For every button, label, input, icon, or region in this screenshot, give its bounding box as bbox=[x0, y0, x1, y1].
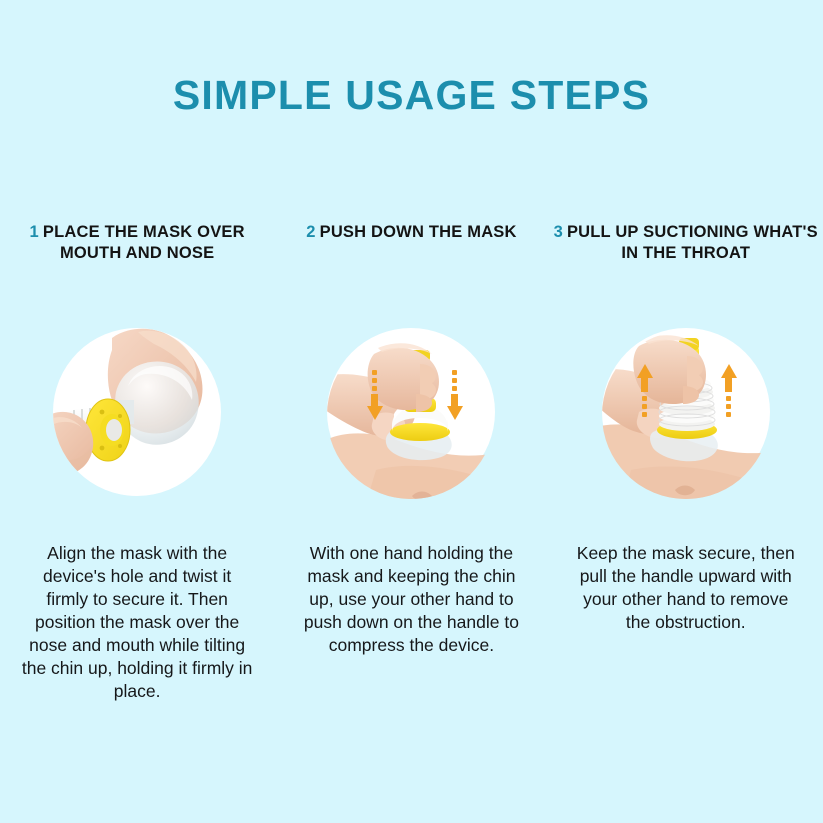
step-caption-2: With one hand holding the mask and keepi… bbox=[300, 542, 522, 657]
step-caption-3: Keep the mask secure, then pull the hand… bbox=[575, 542, 797, 634]
step-heading-3: 3PULL UP SUCTIONING WHAT'S IN THE THROAT bbox=[552, 222, 820, 268]
step-column-1: 1PLACE THE MASK OVER MOUTH AND NOSE bbox=[0, 222, 274, 703]
infographic-page: SIMPLE USAGE STEPS 1PLACE THE MASK OVER … bbox=[0, 0, 823, 823]
push-down-illustration-icon bbox=[316, 320, 506, 510]
mask-attach-illustration-icon bbox=[42, 320, 232, 510]
step-illustration-2 bbox=[316, 320, 506, 510]
step-number-1: 1 bbox=[30, 223, 39, 241]
pull-up-illustration-icon bbox=[591, 320, 781, 510]
step-heading-1: 1PLACE THE MASK OVER MOUTH AND NOSE bbox=[3, 222, 271, 268]
step-heading-text-3: PULL UP SUCTIONING WHAT'S IN THE THROAT bbox=[567, 223, 818, 262]
step-caption-1: Align the mask with the device's hole an… bbox=[21, 542, 253, 703]
step-illustration-1 bbox=[42, 320, 232, 510]
step-heading-text-1: PLACE THE MASK OVER MOUTH AND NOSE bbox=[43, 223, 245, 262]
step-heading-2: 2PUSH DOWN THE MASK bbox=[277, 222, 545, 268]
page-title: SIMPLE USAGE STEPS bbox=[0, 72, 823, 119]
step-heading-text-2: PUSH DOWN THE MASK bbox=[320, 223, 517, 241]
arrow-up-right-icon bbox=[721, 364, 737, 417]
arrow-down-right-icon bbox=[447, 370, 463, 420]
step-number-3: 3 bbox=[554, 223, 563, 241]
step-column-3: 3PULL UP SUCTIONING WHAT'S IN THE THROAT bbox=[549, 222, 823, 634]
step-illustration-3 bbox=[591, 320, 781, 510]
step-number-2: 2 bbox=[306, 223, 315, 241]
steps-container: 1PLACE THE MASK OVER MOUTH AND NOSE bbox=[0, 222, 823, 703]
step-column-2: 2PUSH DOWN THE MASK bbox=[274, 222, 548, 657]
